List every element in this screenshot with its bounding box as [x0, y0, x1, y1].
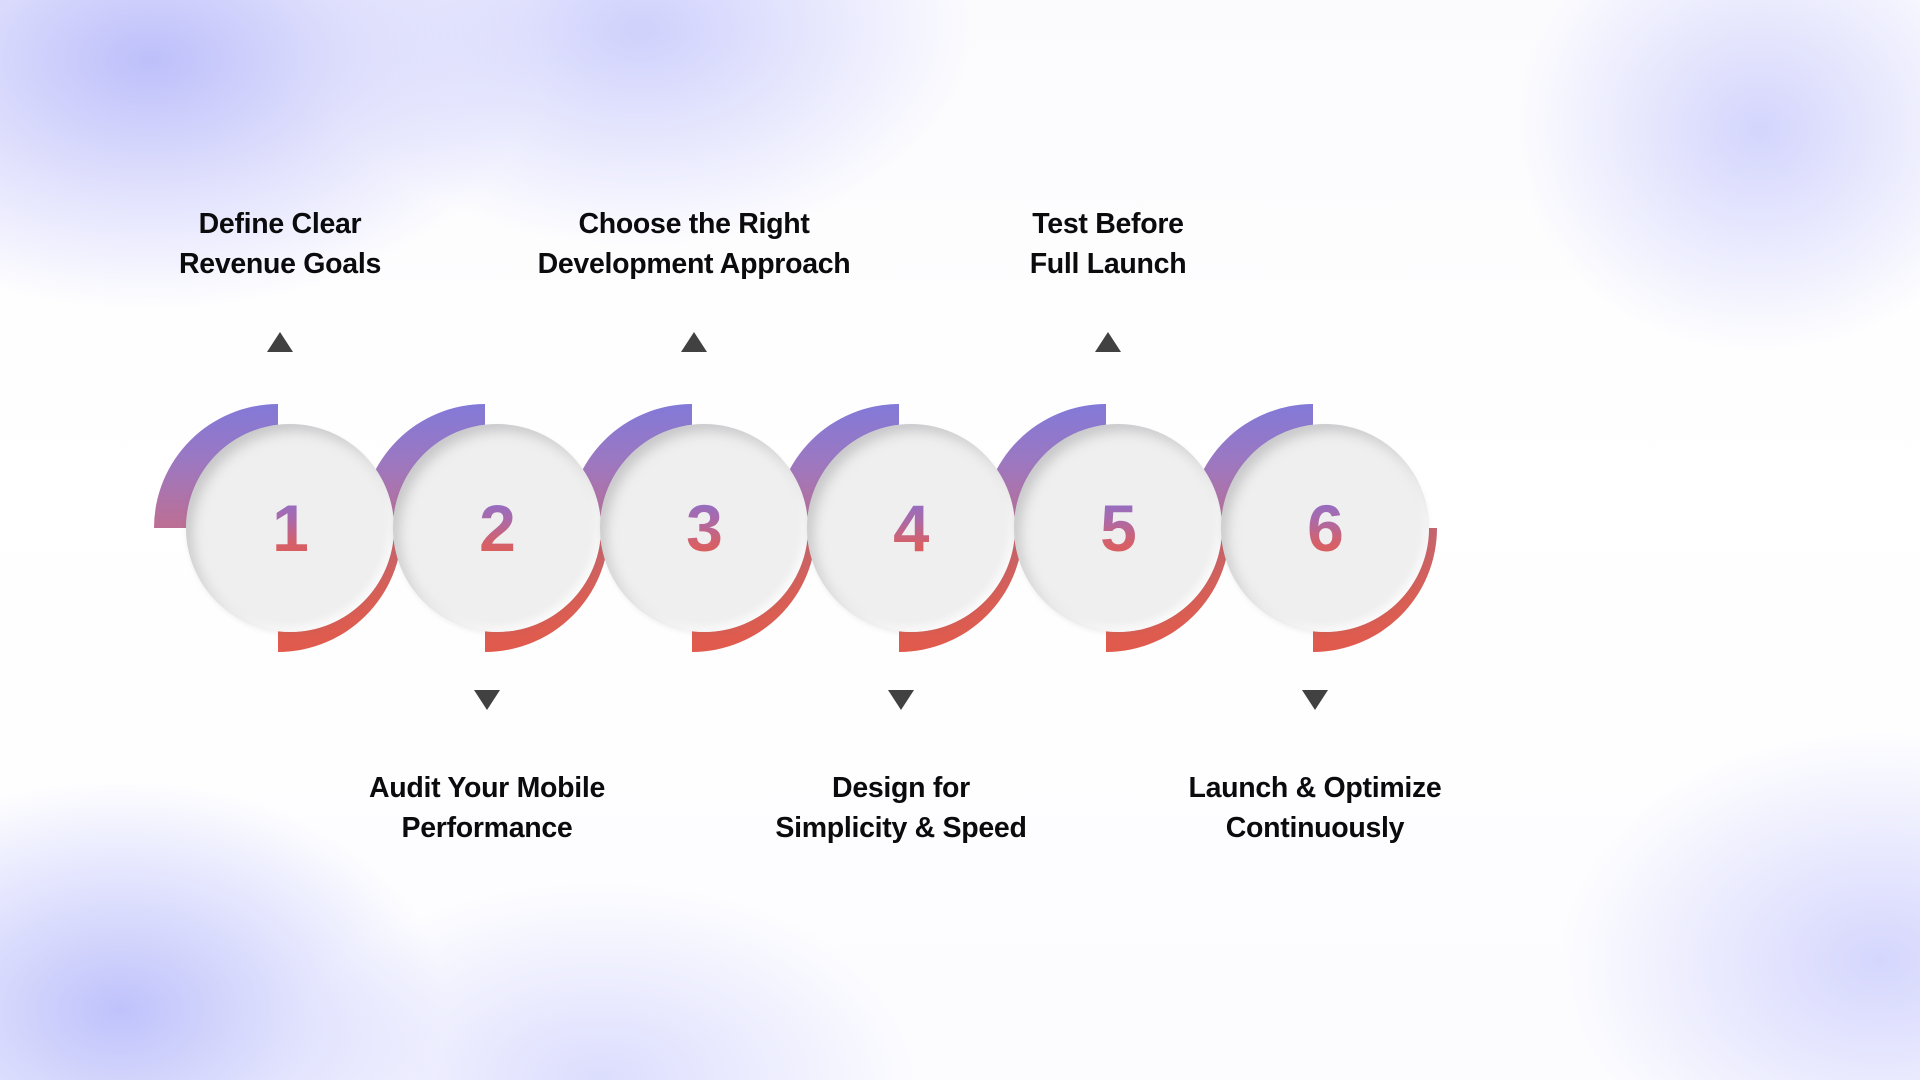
step-label-line1: Choose the Right: [578, 208, 809, 240]
step-label-5: Test BeforeFull Launch: [893, 204, 1323, 285]
step-label-6: Launch & OptimizeContinuously: [1100, 768, 1530, 849]
step-label-line1: Test Before: [1032, 208, 1183, 240]
step-number: 1: [272, 495, 308, 561]
step-label-line2: Simplicity & Speed: [686, 808, 1116, 848]
step-label-line2: Development Approach: [479, 244, 909, 284]
arrow-down-icon: [888, 690, 914, 710]
step-label-line1: Define Clear: [199, 208, 362, 240]
step-label-3: Choose the RightDevelopment Approach: [479, 204, 909, 285]
step-label-line1: Design for: [832, 772, 970, 804]
step-circle-5[interactable]: 5: [1014, 424, 1222, 632]
step-label-1: Define ClearRevenue Goals: [65, 204, 495, 285]
step-circle-4[interactable]: 4: [807, 424, 1015, 632]
step-number: 5: [1100, 495, 1136, 561]
arrow-up-icon: [681, 332, 707, 352]
step-circle-1[interactable]: 1: [186, 424, 394, 632]
step-number: 3: [686, 495, 722, 561]
step-number: 6: [1307, 495, 1343, 561]
step-number: 2: [479, 495, 515, 561]
arrow-down-icon: [1302, 690, 1328, 710]
arrow-up-icon: [267, 332, 293, 352]
infographic-stage: 1Define ClearRevenue Goals2Audit Your Mo…: [0, 0, 1920, 1080]
step-6[interactable]: 6Launch & OptimizeContinuously: [1185, 0, 1445, 1080]
step-circle-3[interactable]: 3: [600, 424, 808, 632]
step-label-line1: Audit Your Mobile: [369, 772, 605, 804]
step-label-line2: Revenue Goals: [65, 244, 495, 284]
step-number: 4: [893, 495, 929, 561]
step-label-line2: Full Launch: [893, 244, 1323, 284]
step-circle-6[interactable]: 6: [1221, 424, 1429, 632]
step-circle-2[interactable]: 2: [393, 424, 601, 632]
step-label-4: Design forSimplicity & Speed: [686, 768, 1116, 849]
step-label-2: Audit Your MobilePerformance: [272, 768, 702, 849]
step-label-line1: Launch & Optimize: [1188, 772, 1441, 804]
arrow-down-icon: [474, 690, 500, 710]
arrow-up-icon: [1095, 332, 1121, 352]
step-label-line2: Continuously: [1100, 808, 1530, 848]
step-label-line2: Performance: [272, 808, 702, 848]
